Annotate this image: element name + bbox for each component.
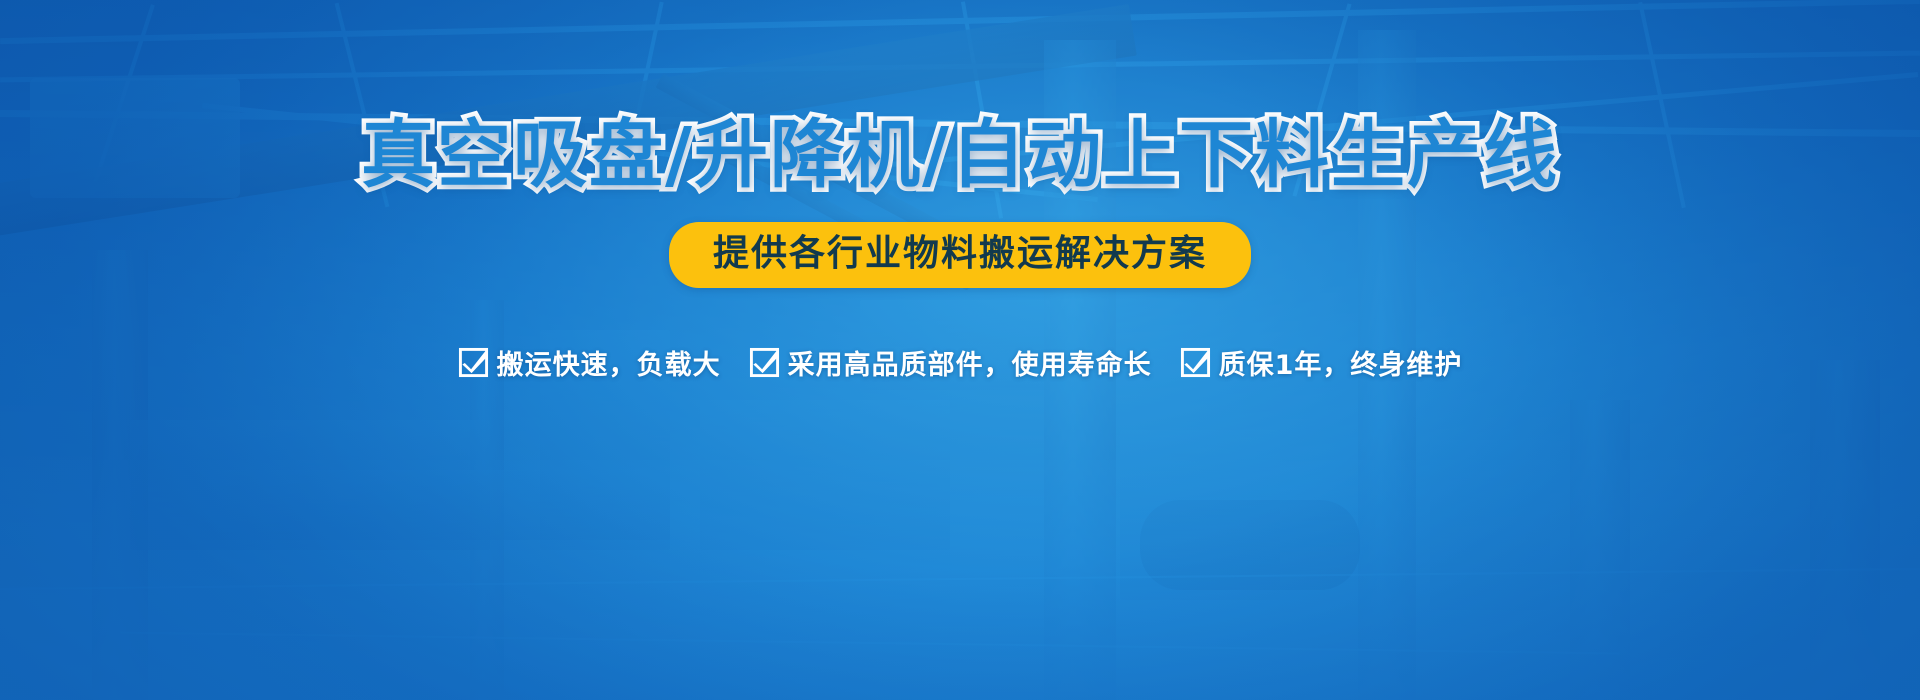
feature-label: 质保1年，终身维护 <box>1219 343 1463 382</box>
feature-item-1: 搬运快速，负载大 <box>458 343 721 382</box>
banner-content: 真空吸盘/升降机/自动上下料生产线 提供各行业物料搬运解决方案 搬运快速，负载大 <box>0 0 1920 700</box>
feature-item-3: 质保1年，终身维护 <box>1180 343 1463 382</box>
feature-list: 搬运快速，负载大 采用高品质部件，使用寿命长 <box>458 343 1463 382</box>
hero-banner: 真空吸盘/升降机/自动上下料生产线 提供各行业物料搬运解决方案 搬运快速，负载大 <box>0 0 1920 700</box>
page-title: 真空吸盘/升降机/自动上下料生产线 <box>361 118 1559 192</box>
checkbox-checked-icon <box>458 347 489 378</box>
feature-label: 采用高品质部件，使用寿命长 <box>788 343 1152 382</box>
tagline-badge: 提供各行业物料搬运解决方案 <box>669 222 1251 288</box>
feature-label: 搬运快速，负载大 <box>497 343 721 382</box>
checkbox-checked-icon <box>1180 347 1211 378</box>
checkbox-checked-icon <box>749 347 780 378</box>
feature-item-2: 采用高品质部件，使用寿命长 <box>749 343 1152 382</box>
